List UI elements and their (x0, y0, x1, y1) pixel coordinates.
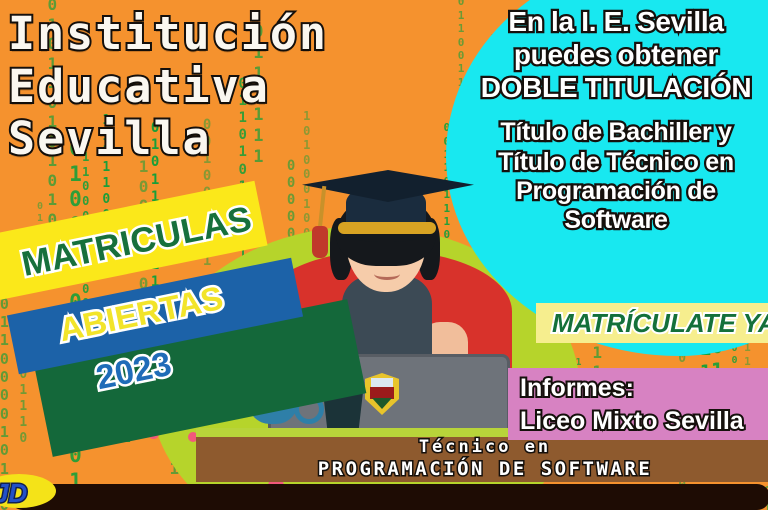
title-line-1: Institución (8, 8, 328, 61)
tassel (312, 226, 328, 258)
tassel-cord (318, 186, 327, 230)
contact-text-block: Informes: Liceo Mixto Sevilla (520, 372, 744, 437)
offer-text-block: En la I. E. Sevilla puedes obtener DOBLE… (446, 6, 768, 235)
program-line-2: PROGRAMACIÓN DE SOFTWARE (196, 458, 768, 482)
offer-line-3: DOBLE TITULACIÓN (446, 72, 768, 105)
contact-line-2: Liceo Mixto Sevilla (520, 405, 744, 438)
offer-line-6: Programación de (446, 177, 768, 206)
graduation-cap-band (338, 222, 436, 234)
offer-line-2: puedes obtener (446, 39, 768, 72)
promotional-poster: 1 0 1 0 1 1 0 0 0 0 1 0 1 0 0 0 0 0 1 1 … (0, 0, 768, 510)
crest-top-band (371, 378, 393, 387)
contact-line-1: Informes: (520, 372, 744, 405)
program-label-block: Técnico en PROGRAMACIÓN DE SOFTWARE (196, 437, 768, 482)
offer-line-4: Título de Bachiller y (446, 118, 768, 147)
cta-label[interactable]: MATRÍCULATE YA (552, 308, 768, 339)
offer-line-7: Software (446, 206, 768, 235)
crest-green-band (372, 398, 392, 409)
title-line-3: Sevilla (8, 113, 328, 166)
page-title: Institución Educativa Sevilla (8, 8, 328, 166)
title-line-2: Educativa (8, 61, 328, 114)
offer-spacer (446, 104, 768, 118)
watermark-label: JD (0, 478, 27, 509)
mouth (374, 268, 400, 280)
crest-red-band (370, 387, 394, 399)
offer-line-5: Título de Técnico en (446, 148, 768, 177)
school-crest-icon (365, 373, 399, 415)
program-line-1: Técnico en (196, 437, 768, 458)
offer-line-1: En la I. E. Sevilla (446, 6, 768, 39)
bottom-bar (10, 484, 768, 510)
